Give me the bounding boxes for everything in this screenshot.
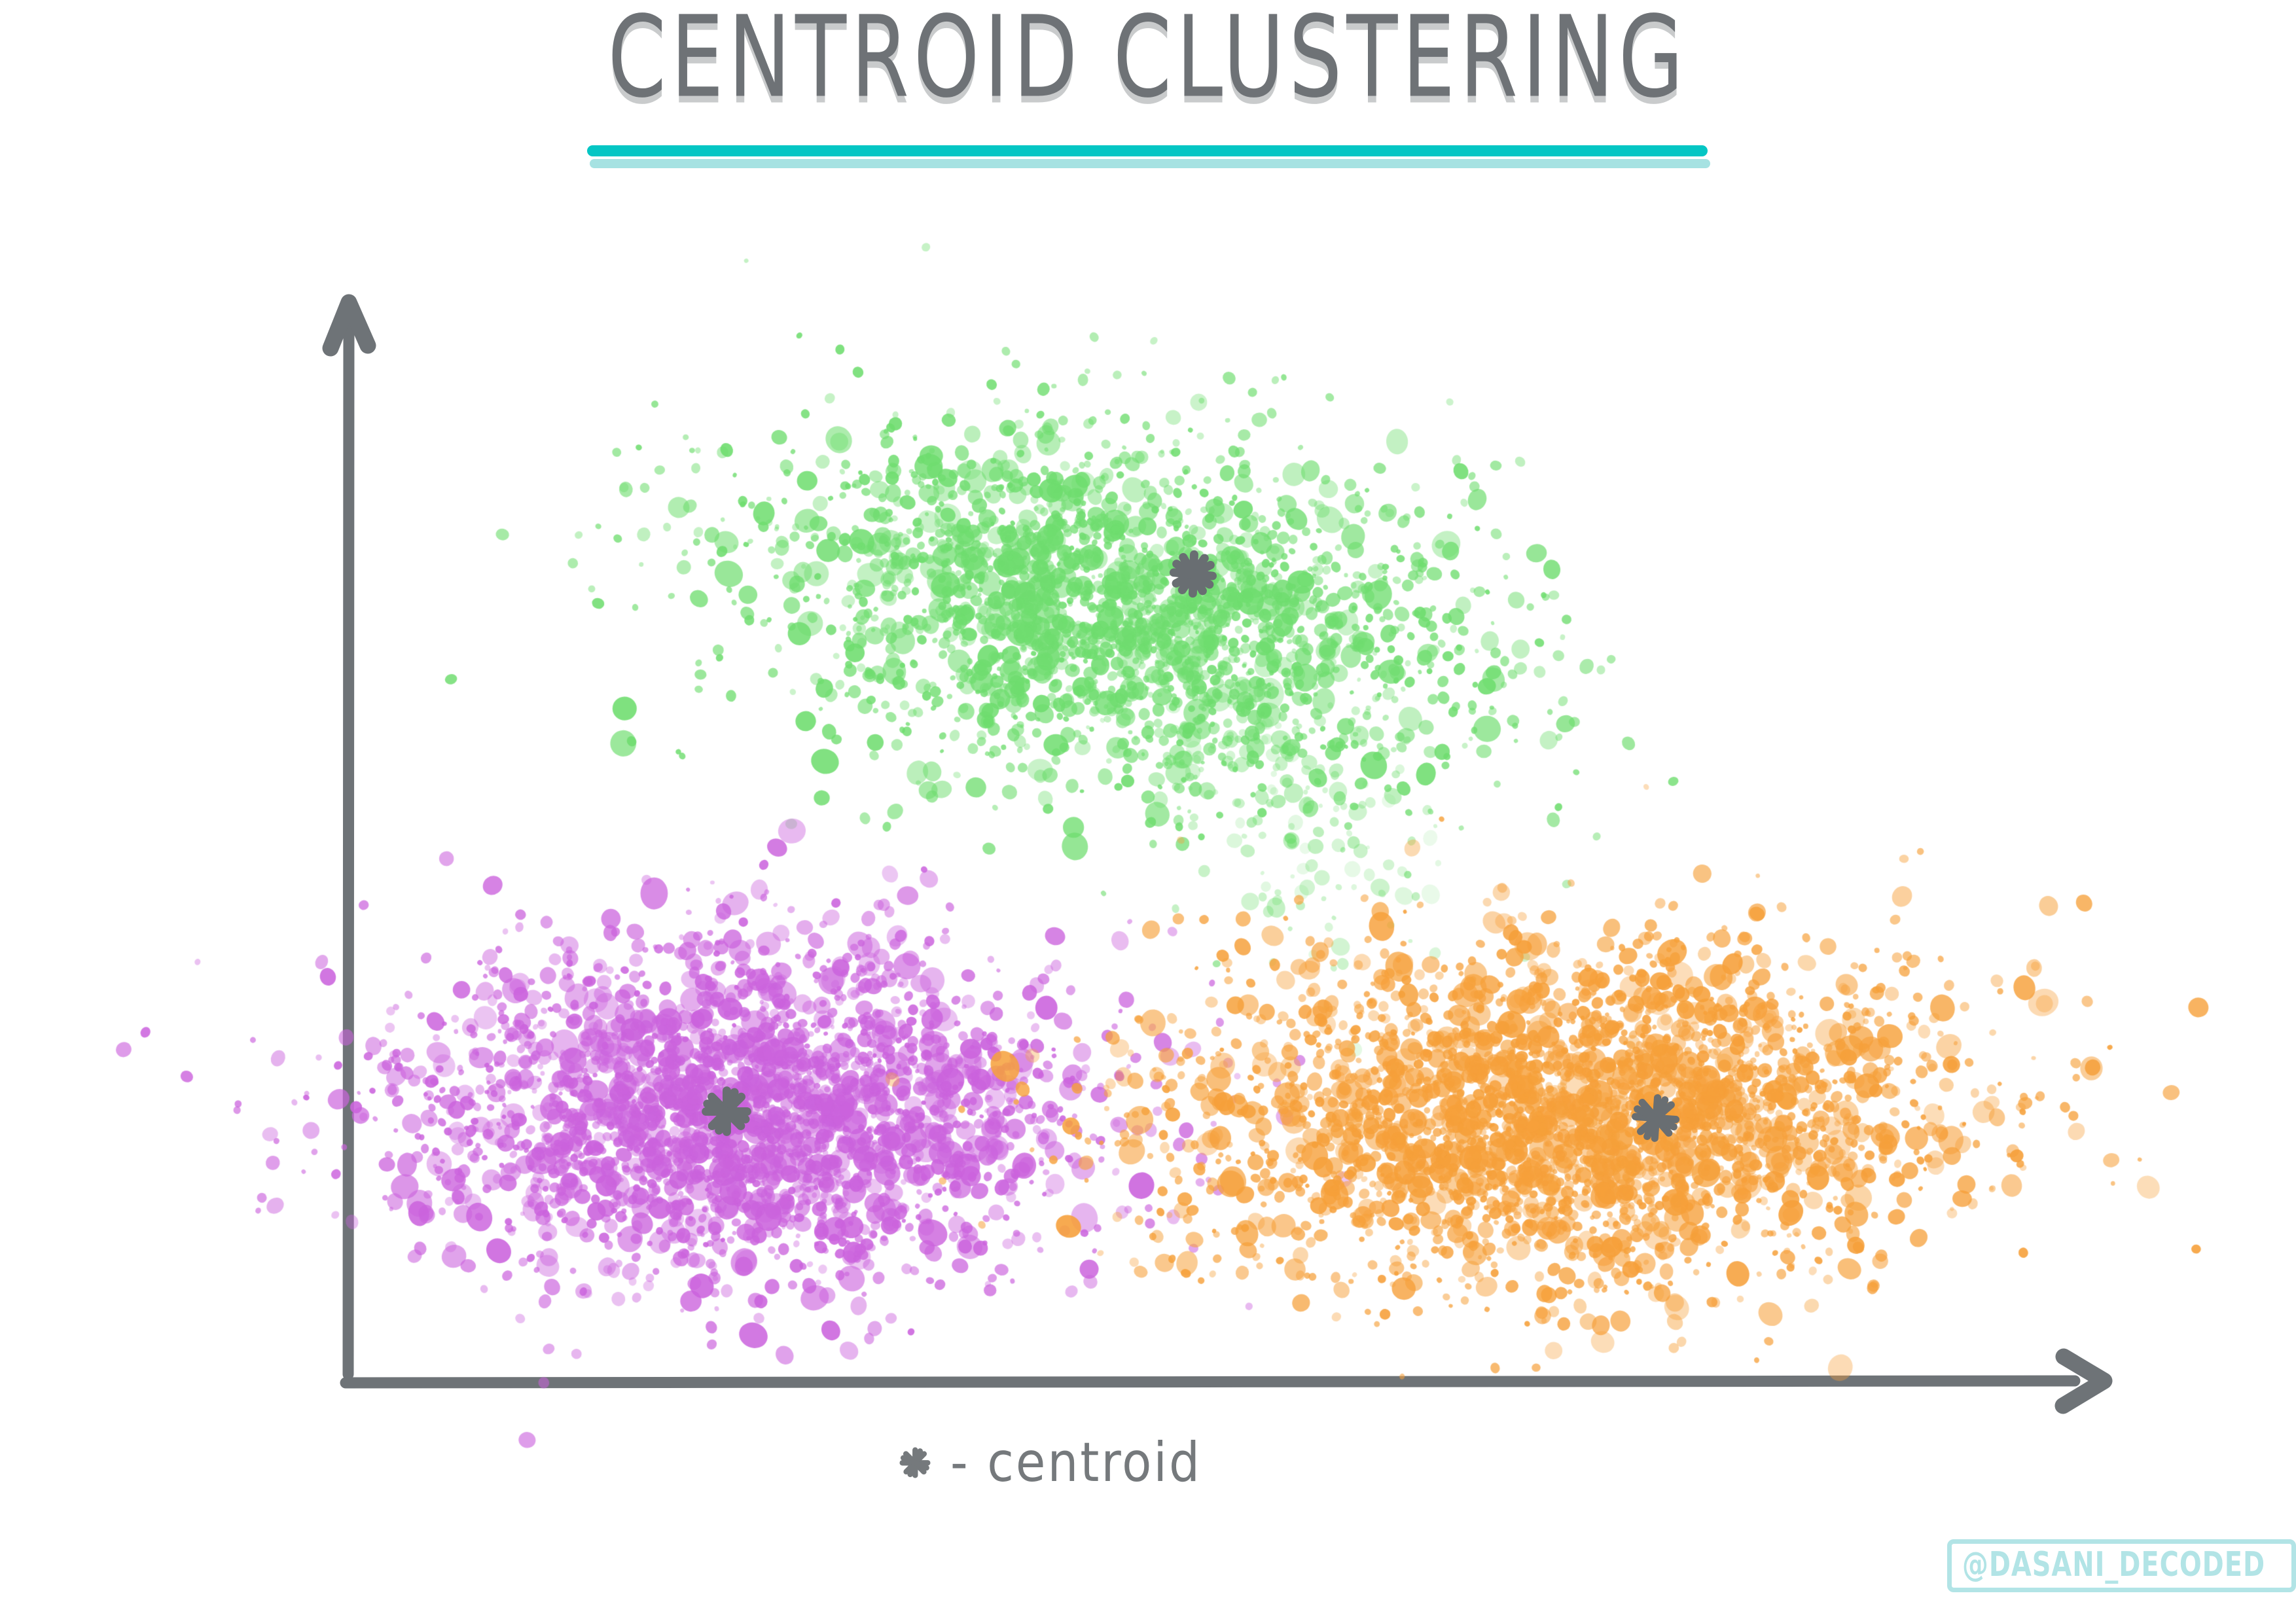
asterisk-icon — [897, 1444, 933, 1481]
centroid-marker-orange — [1628, 1090, 1684, 1146]
legend: - centroid — [897, 1435, 1202, 1491]
scatter-plot — [0, 0, 2296, 1623]
centroid-marker-green — [1165, 546, 1221, 602]
legend-label: - centroid — [950, 1431, 1202, 1494]
cluster-orange — [0, 0, 2296, 1623]
watermark: @DASANI_DECODED — [1947, 1539, 2296, 1592]
centroid-marker-purple — [698, 1083, 755, 1139]
watermark-handle: @DASANI_DECODED — [1962, 1545, 2265, 1584]
